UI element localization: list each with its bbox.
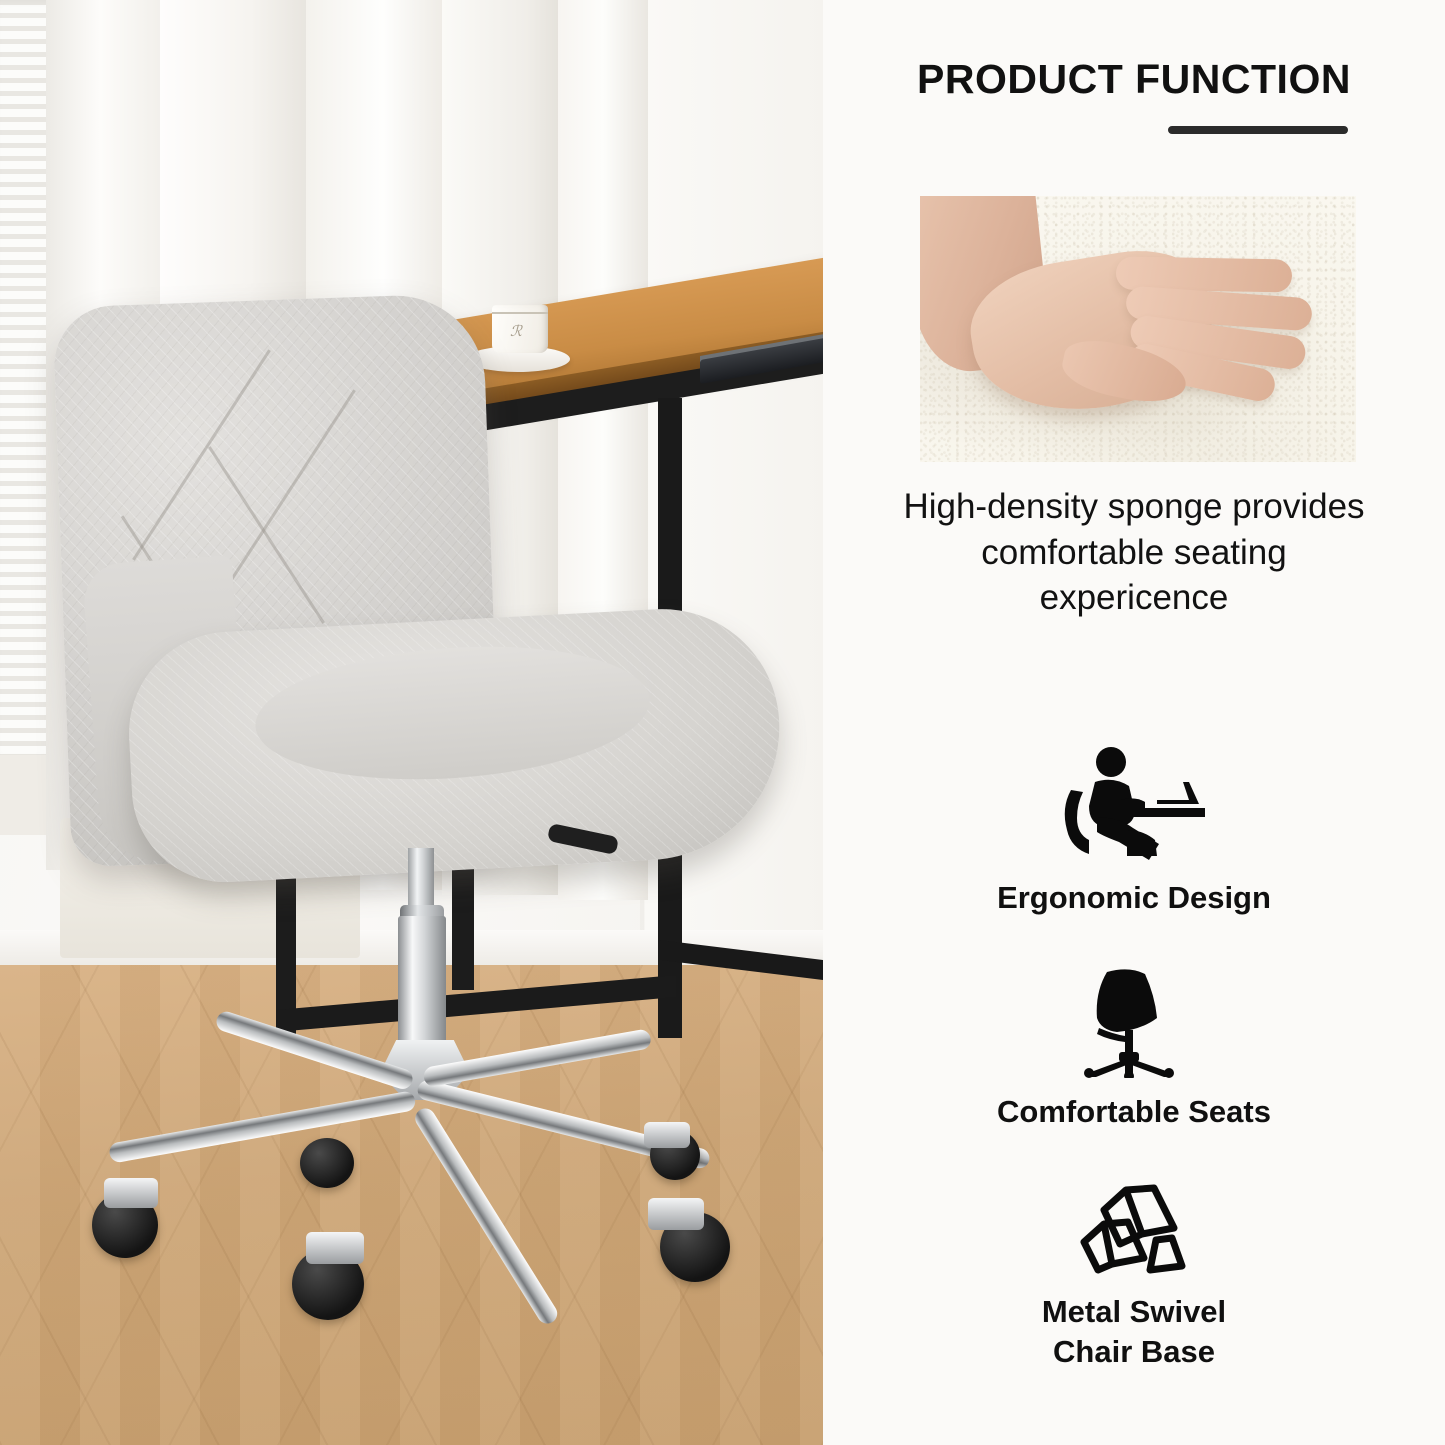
- cup-monogram: ℛ: [510, 322, 522, 341]
- feature-label: Metal SwivelChair Base: [823, 1292, 1445, 1371]
- sponge-caption: High-density sponge provides comfortable…: [884, 484, 1384, 621]
- infographic-page: ℛ PRODUCT FUNCTION: [0, 0, 1445, 1445]
- gas-lift-cylinder: [398, 916, 446, 1056]
- cup-rim: [492, 312, 548, 314]
- feature-ergonomic-design: Ergonomic Design: [823, 746, 1445, 918]
- feature-label: Ergonomic Design: [823, 878, 1445, 918]
- caster-housing: [644, 1122, 690, 1148]
- title-underline: [1168, 126, 1348, 134]
- caster-housing: [306, 1232, 364, 1264]
- product-photo: ℛ: [0, 0, 823, 1445]
- caster-housing: [104, 1178, 158, 1208]
- caster-housing: [648, 1198, 704, 1230]
- memory-foam-photo: [920, 196, 1356, 462]
- feature-label: Comfortable Seats: [823, 1092, 1445, 1132]
- caster-wheel: [300, 1138, 354, 1188]
- office-chair-icon: [1069, 966, 1199, 1078]
- feature-comfortable-seats: Comfortable Seats: [823, 966, 1445, 1132]
- person-sitting-at-desk-icon: [1049, 746, 1219, 864]
- feature-metal-swivel-base: Metal SwivelChair Base: [823, 1182, 1445, 1371]
- page-title: PRODUCT FUNCTION: [823, 56, 1445, 103]
- metal-ingots-icon: [1068, 1182, 1200, 1278]
- info-panel: PRODUCT FUNCTION High-density sponge pro…: [823, 0, 1445, 1445]
